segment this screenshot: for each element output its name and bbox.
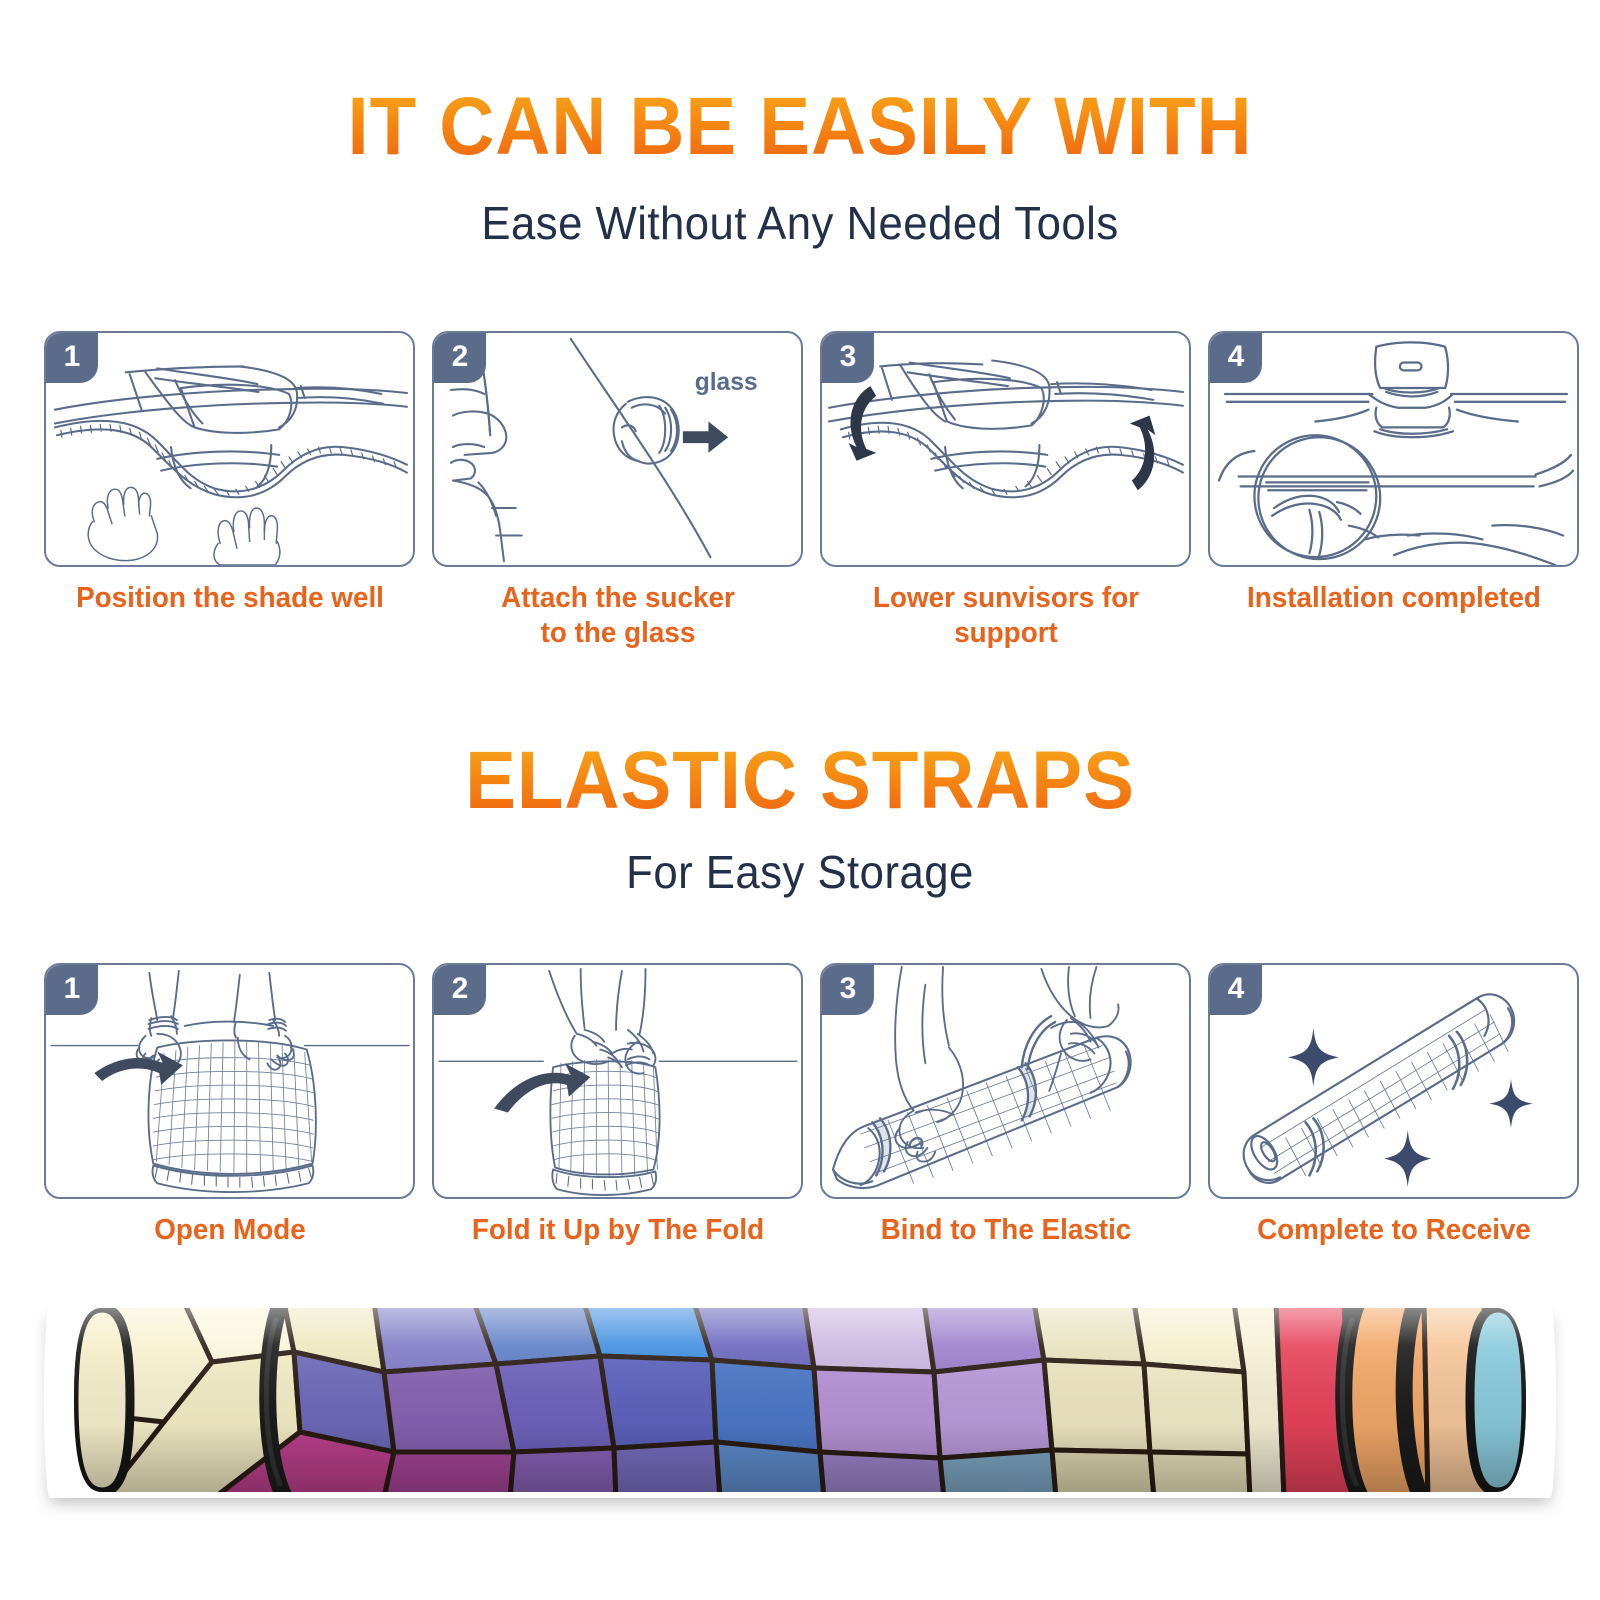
windshield-sunvisors-arrows-icon	[822, 333, 1189, 565]
step-number-badge: 4	[1210, 333, 1262, 383]
section-1-heading-group: IT CAN BE EASILY WITH	[0, 86, 1600, 168]
section-1-headline: IT CAN BE EASILY WITH	[56, 86, 1544, 168]
step-illustration-card: 2	[432, 331, 803, 567]
step-illustration-card: 3	[820, 963, 1191, 1199]
arrow-right-icon	[683, 421, 728, 452]
rotation-arrow-right-icon	[1130, 416, 1156, 491]
sparkle-icons	[1288, 1028, 1533, 1187]
step-caption: Installation completed	[1211, 581, 1576, 616]
car-interior-steering-wheel-icon	[1210, 333, 1577, 565]
section-2-subhead: For Easy Storage	[40, 845, 1560, 899]
section-1-subheading-group: Ease Without Any Needed Tools	[0, 196, 1600, 250]
product-photo-section	[44, 1302, 1556, 1498]
step-caption: Complete to Receive	[1211, 1213, 1576, 1248]
hand-suction-cup-glass-icon: glass	[434, 333, 801, 565]
fold-arrow-icon	[94, 1052, 182, 1085]
step-caption: Lower sunvisors for support	[823, 581, 1188, 652]
section-2-subheading-group: For Easy Storage	[0, 845, 1600, 899]
step-caption: Fold it Up by The Fold	[435, 1213, 800, 1248]
step-card-install-3: 3	[820, 331, 1191, 652]
hands-folding-shade-icon	[434, 965, 801, 1197]
section-1-subhead: Ease Without Any Needed Tools	[40, 196, 1560, 250]
hands-open-shade-icon	[46, 965, 413, 1197]
rolled-sunshade-product-photo	[44, 1302, 1556, 1498]
step-caption: Position the shade well	[47, 581, 412, 616]
step-card-storage-3: 3	[820, 963, 1191, 1248]
step-illustration-card: 1	[44, 331, 415, 567]
section-2-heading-group: ELASTIC STRAPS	[0, 740, 1600, 822]
install-steps-row: 1	[44, 331, 1558, 652]
storage-steps-row: 1	[44, 963, 1558, 1248]
step-number-badge: 1	[46, 333, 98, 383]
step-illustration-card: 2	[432, 963, 803, 1199]
hands-binding-roll-icon	[822, 965, 1189, 1197]
fold-arrow-icon	[494, 1063, 590, 1112]
step-illustration-card: 3	[820, 331, 1191, 567]
step-number-badge: 2	[434, 333, 486, 383]
step-number-badge: 1	[46, 965, 98, 1015]
step-illustration-card: 4	[1208, 331, 1579, 567]
step-card-storage-1: 1	[44, 963, 415, 1248]
glass-annotation-label: glass	[695, 369, 758, 396]
rolled-bundle-sparkles-icon	[1210, 965, 1577, 1197]
step-card-install-2: 2	[432, 331, 803, 652]
step-caption: Open Mode	[47, 1213, 412, 1248]
step-number-badge: 4	[1210, 965, 1262, 1015]
step-illustration-card: 1	[44, 963, 415, 1199]
step-number-badge: 3	[822, 333, 874, 383]
step-number-badge: 3	[822, 965, 874, 1015]
section-2-headline: ELASTIC STRAPS	[56, 740, 1544, 822]
step-caption: Bind to The Elastic	[823, 1213, 1188, 1248]
step-number-badge: 2	[434, 965, 486, 1015]
step-card-install-4: 4	[1208, 331, 1579, 652]
step-caption: Attach the sucker to the glass	[435, 581, 800, 652]
windshield-shade-hands-icon	[46, 333, 413, 565]
step-card-install-1: 1	[44, 331, 415, 652]
step-card-storage-2: 2	[432, 963, 803, 1248]
infographic-page: IT CAN BE EASILY WITH Ease Without Any N…	[0, 0, 1600, 1600]
step-illustration-card: 4	[1208, 963, 1579, 1199]
step-card-storage-4: 4	[1208, 963, 1579, 1248]
